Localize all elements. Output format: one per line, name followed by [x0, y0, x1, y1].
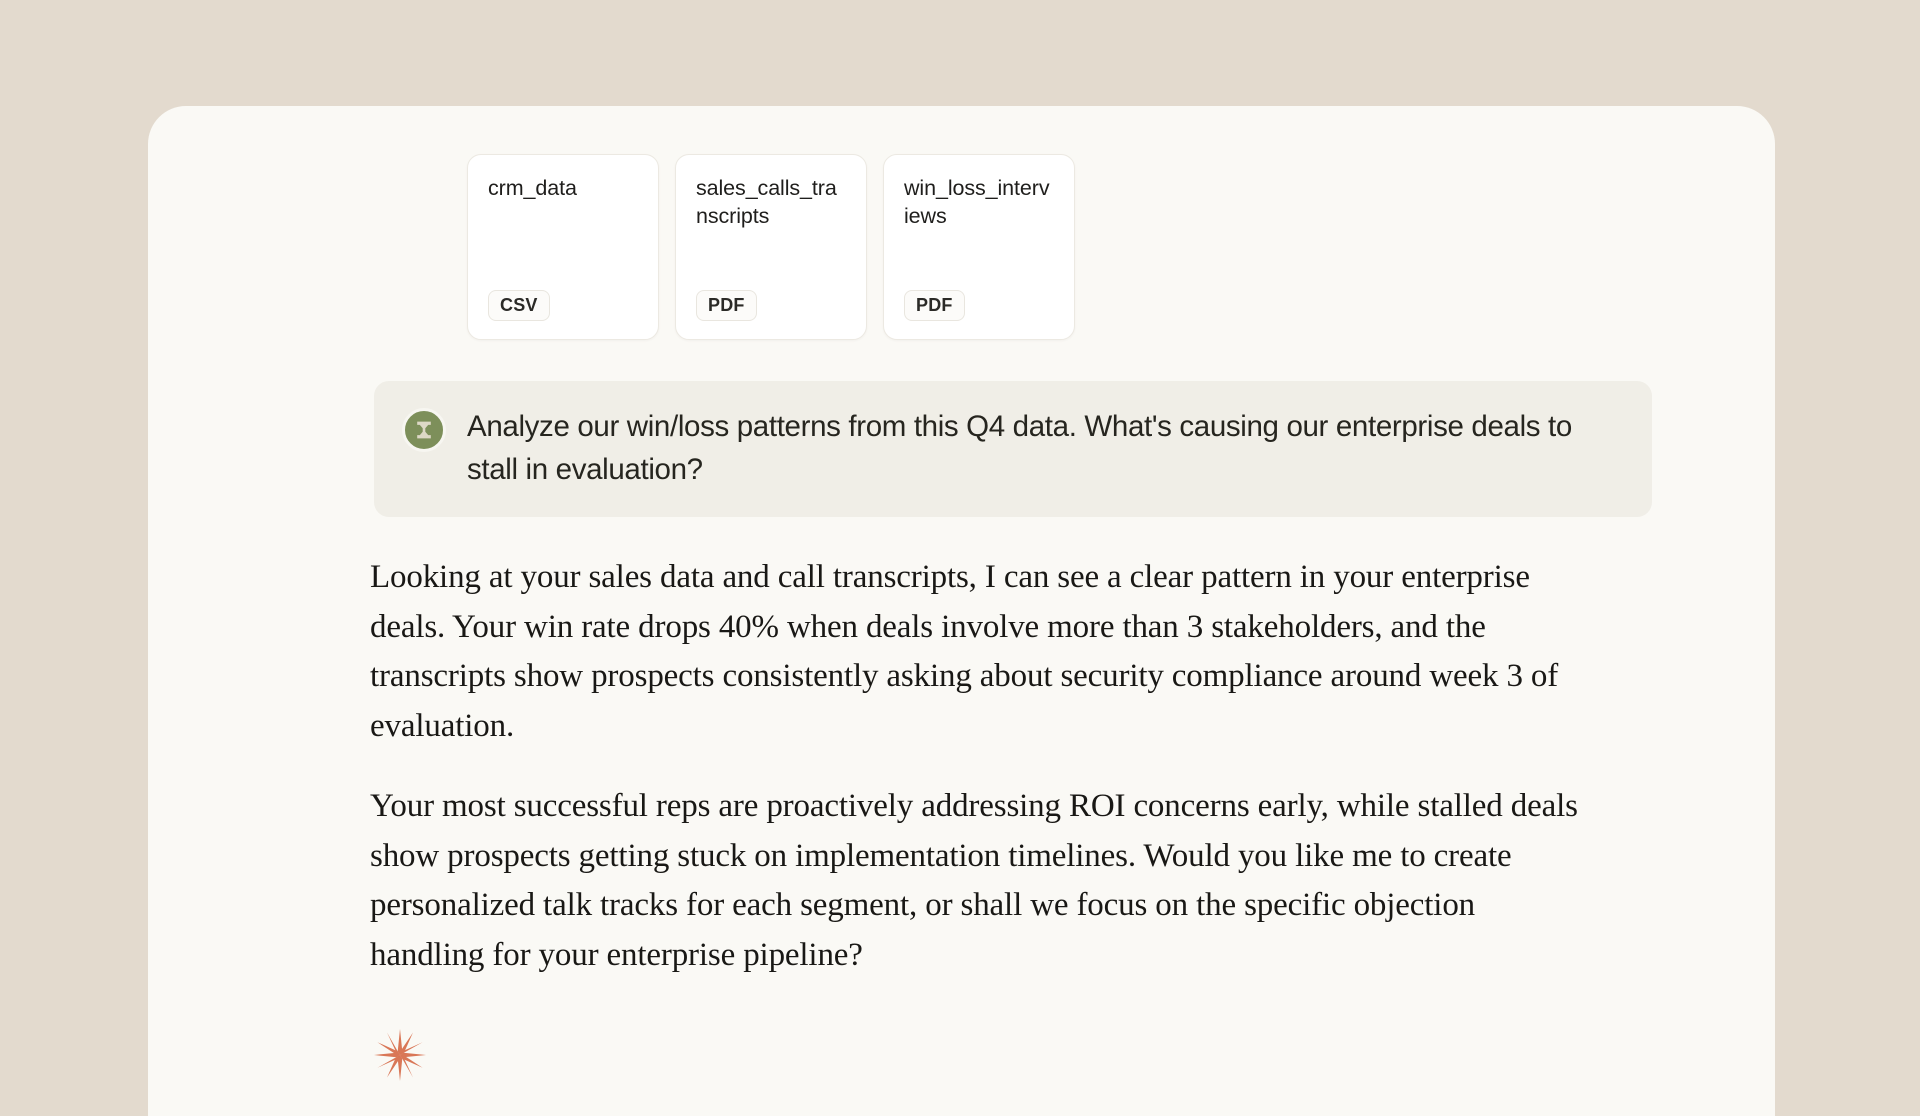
user-avatar-hourglass-icon: [402, 408, 446, 452]
assistant-paragraph-2: Your most successful reps are proactivel…: [370, 782, 1590, 980]
assistant-logo-row: [370, 1025, 1721, 1085]
attachment-card-win-loss-interviews[interactable]: win_loss_interviews PDF: [883, 154, 1075, 340]
user-message-text: Analyze our win/loss patterns from this …: [467, 405, 1587, 491]
card-content: crm_data CSV sales_calls_transcripts PDF…: [148, 106, 1775, 1085]
attachment-name: crm_data: [488, 174, 638, 202]
attachment-type-badge: PDF: [904, 290, 965, 321]
attachment-list: crm_data CSV sales_calls_transcripts PDF…: [467, 154, 1721, 340]
assistant-paragraph-1: Looking at your sales data and call tran…: [370, 553, 1590, 751]
conversation-card: crm_data CSV sales_calls_transcripts PDF…: [148, 106, 1775, 1116]
attachment-name: sales_calls_transcripts: [696, 174, 846, 230]
attachment-card-sales-calls-transcripts[interactable]: sales_calls_transcripts PDF: [675, 154, 867, 340]
claude-starburst-icon: [370, 1025, 430, 1085]
attachment-type-badge: PDF: [696, 290, 757, 321]
attachment-type-badge: CSV: [488, 290, 550, 321]
assistant-response: Looking at your sales data and call tran…: [370, 553, 1590, 980]
attachment-name: win_loss_interviews: [904, 174, 1054, 230]
attachment-card-crm-data[interactable]: crm_data CSV: [467, 154, 659, 340]
user-message-bubble: Analyze our win/loss patterns from this …: [374, 381, 1652, 517]
